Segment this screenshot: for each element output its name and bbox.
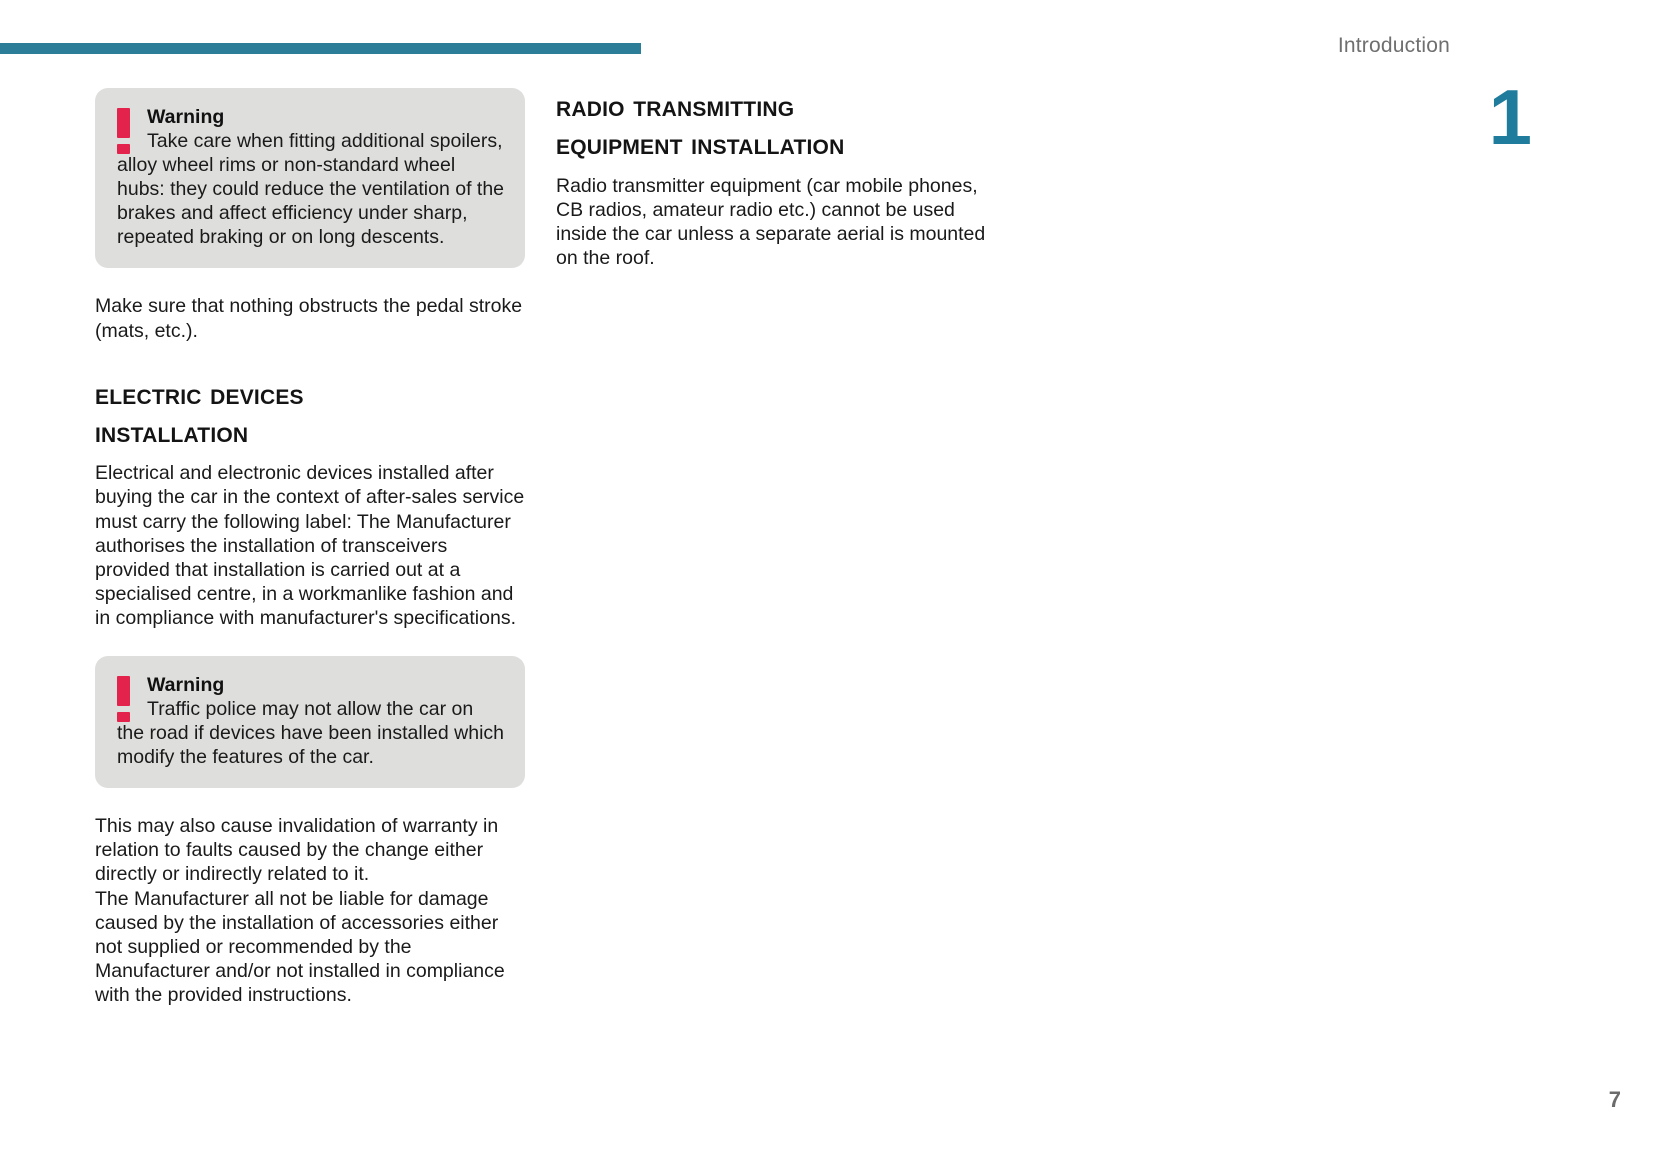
warning-box-traffic-police: Warning Traffic police may not allow the… (95, 656, 525, 788)
left-column: Warning Take care when fitting additiona… (95, 88, 525, 1007)
header-section-title: Introduction (1338, 34, 1450, 58)
heading-line-1: Electric Devices (95, 378, 304, 411)
paragraph-electrical-devices: Electrical and electronic devices instal… (95, 461, 525, 630)
paragraph-pedal-stroke: Make sure that nothing obstructs the ped… (95, 294, 525, 342)
exclamation-icon (117, 676, 130, 721)
warning-text: Take care when fitting additional spoile… (117, 129, 505, 249)
header-rule (0, 43, 641, 54)
heading-line-1: Radio Transmitting (556, 90, 794, 123)
heading-line-2: Installation (95, 416, 248, 449)
exclamation-icon (117, 108, 130, 153)
paragraph-manufacturer-liability: The Manufacturer all not be liable for d… (95, 887, 525, 1007)
paragraph-warranty-invalidation: This may also cause invalidation of warr… (95, 814, 525, 886)
heading-line-2: Equipment Installation (556, 128, 844, 161)
paragraph-radio-transmitter: Radio transmitter equipment (car mobile … (556, 174, 986, 270)
warning-title: Warning (147, 673, 505, 697)
right-column: Radio Transmitting Equipment Installatio… (556, 88, 986, 270)
warning-box-spoilers: Warning Take care when fitting additiona… (95, 88, 525, 268)
heading-radio-transmitting: Radio Transmitting Equipment Installatio… (556, 88, 986, 165)
heading-electric-devices: Electric Devices Installation (95, 376, 525, 453)
chapter-number: 1 (1489, 78, 1530, 156)
page-number: 7 (1609, 1087, 1621, 1113)
warning-title: Warning (147, 105, 505, 129)
warning-text: Traffic police may not allow the car on … (117, 697, 505, 769)
